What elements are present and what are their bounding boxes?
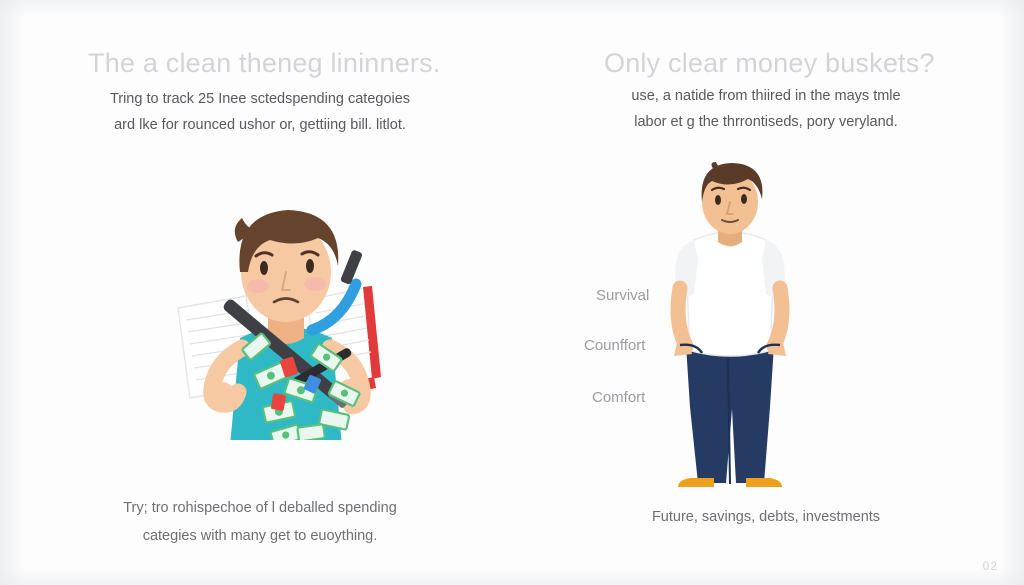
left-subtext: Tring to track 25 Inee sctedspending cat… <box>60 86 460 138</box>
bucket-label-counffort: Counffort <box>584 337 645 354</box>
arm-left <box>678 288 686 346</box>
right-subtext-line-1: use, a natide from thiired in the mays t… <box>576 83 956 109</box>
calm-man-illustration <box>650 162 810 492</box>
slide-canvas: The a clean theneg lininners. Tring to t… <box>0 0 1024 585</box>
arm-right <box>774 288 782 346</box>
pen-upper <box>340 249 363 285</box>
left-headline: The a clean theneg lininners. <box>88 48 441 79</box>
left-panel: The a clean theneg lininners. Tring to t… <box>0 0 512 585</box>
overwhelmed-man-illustration <box>160 180 410 445</box>
right-subtext-line-2: labor et g the thrrontiseds, pory veryla… <box>576 109 956 135</box>
left-subtext-line-1: Tring to track 25 Inee sctedspending cat… <box>60 86 460 112</box>
right-caption: Future, savings, debts, investments <box>576 503 956 531</box>
left-caption: Try; tro rohispechoe of l deballed spend… <box>60 494 460 550</box>
right-panel: Only clear money buskets? use, a natide … <box>512 0 1024 585</box>
bucket-label-survival: Survival <box>596 287 649 304</box>
right-headline: Only clear money buskets? <box>604 48 935 79</box>
left-subtext-line-2: ard lke for rounced ushor or, gettiing b… <box>60 112 460 138</box>
right-subtext: use, a natide from thiired in the mays t… <box>576 83 956 135</box>
left-caption-line-1: Try; tro rohispechoe of l deballed spend… <box>60 494 460 522</box>
shoe-right <box>746 478 782 487</box>
page-number: 02 <box>983 559 998 573</box>
left-caption-line-2: categies with many get to euoything. <box>60 522 460 550</box>
shoe-left <box>678 478 714 487</box>
bucket-label-comfort: Comfort <box>592 389 645 406</box>
white-tshirt <box>686 232 774 356</box>
